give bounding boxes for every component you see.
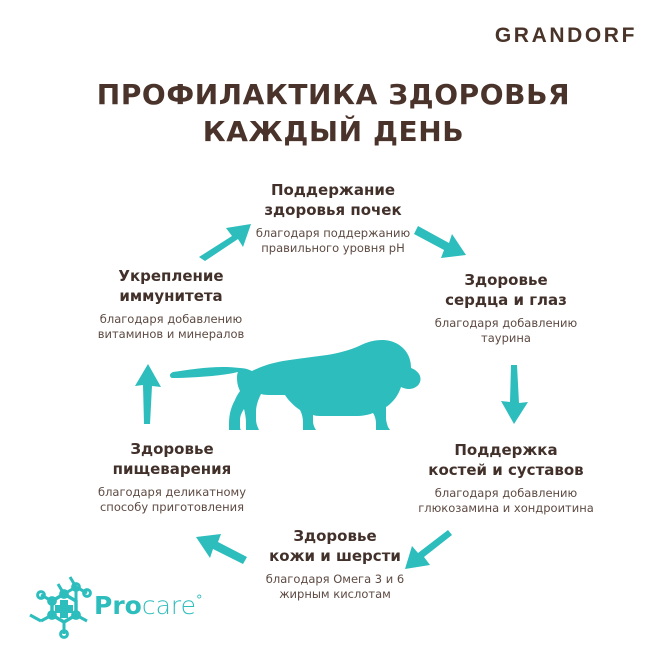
benefit-node-immunity: Укрепление иммунитета благодаря добавлен… <box>56 267 286 343</box>
benefit-node-digestion: Здоровье пищеварения благодаря деликатно… <box>56 440 288 516</box>
benefit-title-digestion: Здоровье пищеварения <box>56 440 288 480</box>
procare-logo: Procare° <box>22 580 197 640</box>
benefit-title-immunity: Укрепление иммунитета <box>56 267 286 307</box>
procare-wordmark-pro: Pro <box>94 591 142 620</box>
page-title-line-2: КАЖДЫЙ ДЕНЬ <box>0 113 667 150</box>
benefit-subtitle-digestion: благодаря деликатному способу приготовле… <box>56 485 288 517</box>
page-title-line-1: ПРОФИЛАКТИКА ЗДОРОВЬЯ <box>0 76 667 113</box>
benefit-title-joints: Поддержка костей и суставов <box>392 441 620 481</box>
benefit-subtitle-heart: благодаря добавлению таурина <box>400 316 612 348</box>
dog-silhouette-icon <box>170 340 421 430</box>
procare-wordmark-care: care <box>142 591 196 620</box>
benefit-subtitle-joints: благодаря добавлению глюкозамина и хондр… <box>392 486 620 518</box>
benefit-node-heart: Здоровье сердца и глаз благодаря добавле… <box>400 271 612 347</box>
benefit-node-kidneys: Поддержание здоровья почек благодаря под… <box>213 181 453 257</box>
brand-wordmark: GRANDORF <box>495 24 637 48</box>
procare-wordmark-degree: ° <box>196 594 203 609</box>
benefit-node-joints: Поддержка костей и суставов благодаря до… <box>392 441 620 517</box>
page-title: ПРОФИЛАКТИКА ЗДОРОВЬЯ КАЖДЫЙ ДЕНЬ <box>0 76 667 150</box>
benefit-subtitle-skin: благодаря Омега 3 и 6 жирным кислотам <box>228 572 442 604</box>
procare-wordmark: Procare° <box>94 593 203 618</box>
arrow-heart-to-joints-icon <box>501 365 528 424</box>
benefit-title-kidneys: Поддержание здоровья почек <box>213 181 453 221</box>
benefit-title-heart: Здоровье сердца и глаз <box>400 271 612 311</box>
benefit-title-skin: Здоровье кожи и шерсти <box>228 527 442 567</box>
arrow-digestion-to-immunity-icon <box>135 364 161 424</box>
benefit-subtitle-kidneys: благодаря поддержанию правильного уровня… <box>213 226 453 258</box>
benefit-subtitle-immunity: благодаря добавлению витаминов и минерал… <box>56 312 286 344</box>
benefit-node-skin: Здоровье кожи и шерсти благодаря Омега 3… <box>228 527 442 603</box>
